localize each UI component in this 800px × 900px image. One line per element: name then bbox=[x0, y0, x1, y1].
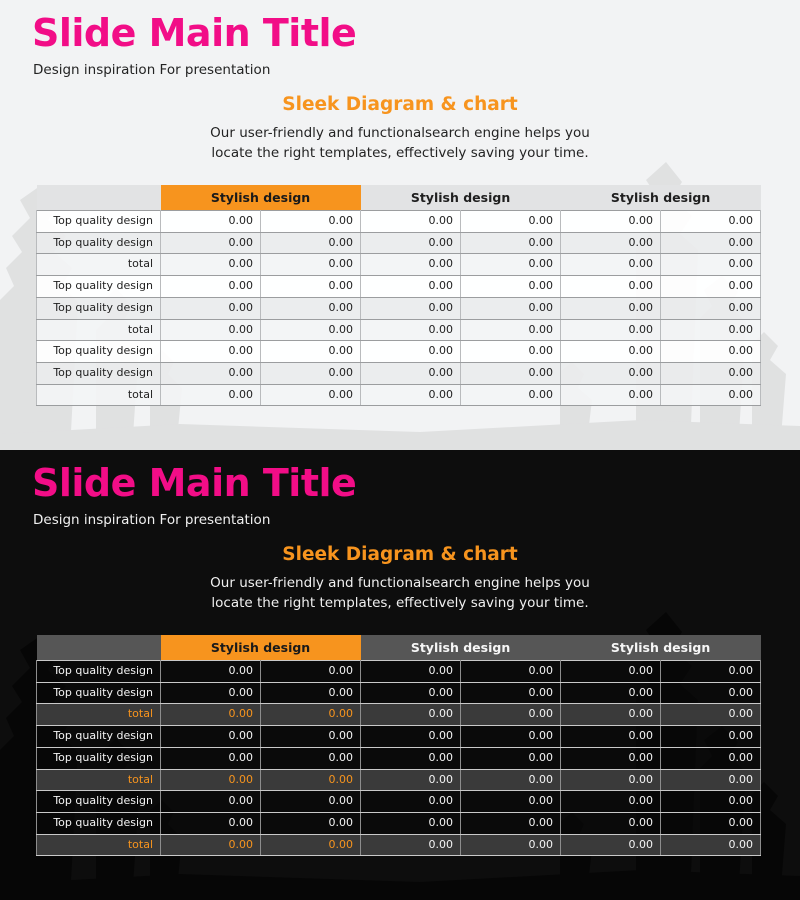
table-cell-value: 0.00 bbox=[161, 362, 261, 384]
table-cell-value: 0.00 bbox=[461, 726, 561, 748]
column-header-group-1: Stylish design bbox=[161, 635, 361, 661]
table-cell-value: 0.00 bbox=[461, 769, 561, 791]
section-title: Sleek Diagram & chart bbox=[0, 544, 800, 565]
table-cell-value: 0.00 bbox=[161, 791, 261, 813]
table-cell-value: 0.00 bbox=[261, 297, 361, 319]
table-cell-value: 0.00 bbox=[161, 254, 261, 276]
table-cell-value: 0.00 bbox=[361, 769, 461, 791]
table-cell-value: 0.00 bbox=[361, 362, 461, 384]
data-table: Stylish design Stylish design Stylish de… bbox=[36, 635, 761, 856]
column-header-group-3: Stylish design bbox=[561, 185, 761, 211]
column-header-group-2: Stylish design bbox=[361, 185, 561, 211]
slide-dark: Slide Main Title Design inspiration For … bbox=[0, 450, 800, 900]
table-body: Top quality design0.000.000.000.000.000.… bbox=[37, 661, 761, 856]
table-cell-value: 0.00 bbox=[561, 254, 661, 276]
table-cell-value: 0.00 bbox=[461, 384, 561, 406]
page-subtitle: Design inspiration For presentation bbox=[33, 62, 270, 78]
column-header-group-3: Stylish design bbox=[561, 635, 761, 661]
table-cell-value: 0.00 bbox=[161, 812, 261, 834]
table-cell-value: 0.00 bbox=[361, 297, 461, 319]
table-cell-value: 0.00 bbox=[161, 384, 261, 406]
table-cell-value: 0.00 bbox=[561, 362, 661, 384]
table-cell-value: 0.00 bbox=[161, 297, 261, 319]
column-header-group-1: Stylish design bbox=[161, 185, 361, 211]
table-cell-value: 0.00 bbox=[461, 254, 561, 276]
row-label-total: total bbox=[37, 834, 161, 856]
table-cell-value: 0.00 bbox=[461, 319, 561, 341]
row-label-total: total bbox=[37, 319, 161, 341]
table-cell-value: 0.00 bbox=[361, 747, 461, 769]
table-cell-value: 0.00 bbox=[661, 704, 761, 726]
table-cell-value: 0.00 bbox=[561, 812, 661, 834]
data-table-wrapper: Stylish design Stylish design Stylish de… bbox=[36, 185, 760, 406]
table-row: total0.000.000.000.000.000.00 bbox=[37, 834, 761, 856]
table-cell-value: 0.00 bbox=[261, 834, 361, 856]
table-cell-value: 0.00 bbox=[561, 769, 661, 791]
table-cell-value: 0.00 bbox=[261, 232, 361, 254]
table-cell-value: 0.00 bbox=[561, 384, 661, 406]
section-description: Our user-friendly and functionalsearch e… bbox=[190, 574, 610, 613]
table-cell-value: 0.00 bbox=[661, 362, 761, 384]
table-cell-value: 0.00 bbox=[261, 747, 361, 769]
table-cell-value: 0.00 bbox=[661, 791, 761, 813]
table-cell-value: 0.00 bbox=[661, 254, 761, 276]
table-cell-value: 0.00 bbox=[361, 211, 461, 233]
table-cell-value: 0.00 bbox=[561, 704, 661, 726]
slide-light: Slide Main Title Design inspiration For … bbox=[0, 0, 800, 450]
table-cell-value: 0.00 bbox=[161, 211, 261, 233]
table-head: Stylish design Stylish design Stylish de… bbox=[37, 185, 761, 211]
table-cell-value: 0.00 bbox=[461, 747, 561, 769]
table-cell-value: 0.00 bbox=[261, 276, 361, 298]
table-cell-value: 0.00 bbox=[461, 232, 561, 254]
table-row: Top quality design0.000.000.000.000.000.… bbox=[37, 791, 761, 813]
table-cell-value: 0.00 bbox=[461, 704, 561, 726]
row-label: Top quality design bbox=[37, 682, 161, 704]
table-cell-value: 0.00 bbox=[461, 297, 561, 319]
table-cell-value: 0.00 bbox=[361, 791, 461, 813]
table-cell-value: 0.00 bbox=[361, 661, 461, 683]
table-cell-value: 0.00 bbox=[361, 812, 461, 834]
table-cell-value: 0.00 bbox=[261, 769, 361, 791]
table-row: total0.000.000.000.000.000.00 bbox=[37, 384, 761, 406]
table-cell-value: 0.00 bbox=[361, 254, 461, 276]
table-row: Top quality design0.000.000.000.000.000.… bbox=[37, 747, 761, 769]
table-cell-value: 0.00 bbox=[161, 769, 261, 791]
table-cell-value: 0.00 bbox=[661, 747, 761, 769]
table-row: Top quality design0.000.000.000.000.000.… bbox=[37, 211, 761, 233]
table-cell-value: 0.00 bbox=[661, 319, 761, 341]
table-cell-value: 0.00 bbox=[161, 834, 261, 856]
table-row: Top quality design0.000.000.000.000.000.… bbox=[37, 341, 761, 363]
table-cell-value: 0.00 bbox=[461, 661, 561, 683]
table-cell-value: 0.00 bbox=[661, 341, 761, 363]
table-cell-value: 0.00 bbox=[561, 747, 661, 769]
table-cell-value: 0.00 bbox=[461, 682, 561, 704]
table-cell-value: 0.00 bbox=[361, 682, 461, 704]
table-body: Top quality design0.000.000.000.000.000.… bbox=[37, 211, 761, 406]
data-table-wrapper: Stylish design Stylish design Stylish de… bbox=[36, 635, 760, 856]
table-cell-value: 0.00 bbox=[561, 834, 661, 856]
column-header-blank bbox=[37, 635, 161, 661]
table-cell-value: 0.00 bbox=[361, 704, 461, 726]
table-cell-value: 0.00 bbox=[261, 384, 361, 406]
table-row: Top quality design0.000.000.000.000.000.… bbox=[37, 682, 761, 704]
row-label: Top quality design bbox=[37, 362, 161, 384]
row-label: Top quality design bbox=[37, 747, 161, 769]
table-cell-value: 0.00 bbox=[561, 319, 661, 341]
row-label: Top quality design bbox=[37, 276, 161, 298]
table-cell-value: 0.00 bbox=[261, 362, 361, 384]
table-cell-value: 0.00 bbox=[661, 232, 761, 254]
table-cell-value: 0.00 bbox=[561, 791, 661, 813]
table-cell-value: 0.00 bbox=[661, 834, 761, 856]
table-cell-value: 0.00 bbox=[661, 812, 761, 834]
table-cell-value: 0.00 bbox=[261, 211, 361, 233]
page-title: Slide Main Title bbox=[32, 14, 356, 54]
table-cell-value: 0.00 bbox=[261, 682, 361, 704]
table-cell-value: 0.00 bbox=[261, 341, 361, 363]
table-cell-value: 0.00 bbox=[561, 211, 661, 233]
table-cell-value: 0.00 bbox=[261, 254, 361, 276]
table-cell-value: 0.00 bbox=[461, 791, 561, 813]
table-cell-value: 0.00 bbox=[661, 682, 761, 704]
table-cell-value: 0.00 bbox=[561, 341, 661, 363]
row-label: Top quality design bbox=[37, 232, 161, 254]
table-cell-value: 0.00 bbox=[461, 341, 561, 363]
table-row: total0.000.000.000.000.000.00 bbox=[37, 319, 761, 341]
table-cell-value: 0.00 bbox=[161, 747, 261, 769]
table-row: total0.000.000.000.000.000.00 bbox=[37, 254, 761, 276]
slide-deck-preview: Slide Main Title Design inspiration For … bbox=[0, 0, 800, 900]
table-cell-value: 0.00 bbox=[361, 726, 461, 748]
table-header-row: Stylish design Stylish design Stylish de… bbox=[37, 185, 761, 211]
page-subtitle: Design inspiration For presentation bbox=[33, 512, 270, 528]
table-row: total0.000.000.000.000.000.00 bbox=[37, 704, 761, 726]
table-cell-value: 0.00 bbox=[661, 384, 761, 406]
table-cell-value: 0.00 bbox=[261, 726, 361, 748]
table-cell-value: 0.00 bbox=[561, 661, 661, 683]
row-label: Top quality design bbox=[37, 211, 161, 233]
row-label-total: total bbox=[37, 769, 161, 791]
row-label: Top quality design bbox=[37, 661, 161, 683]
table-cell-value: 0.00 bbox=[561, 297, 661, 319]
table-cell-value: 0.00 bbox=[361, 834, 461, 856]
section-title: Sleek Diagram & chart bbox=[0, 94, 800, 115]
row-label: Top quality design bbox=[37, 297, 161, 319]
table-cell-value: 0.00 bbox=[361, 276, 461, 298]
table-cell-value: 0.00 bbox=[461, 362, 561, 384]
column-header-group-2: Stylish design bbox=[361, 635, 561, 661]
table-cell-value: 0.00 bbox=[161, 682, 261, 704]
table-cell-value: 0.00 bbox=[261, 704, 361, 726]
table-cell-value: 0.00 bbox=[461, 834, 561, 856]
row-label: Top quality design bbox=[37, 791, 161, 813]
table-row: Top quality design0.000.000.000.000.000.… bbox=[37, 661, 761, 683]
table-row: Top quality design0.000.000.000.000.000.… bbox=[37, 297, 761, 319]
table-row: Top quality design0.000.000.000.000.000.… bbox=[37, 362, 761, 384]
row-label: Top quality design bbox=[37, 812, 161, 834]
table-cell-value: 0.00 bbox=[461, 211, 561, 233]
table-cell-value: 0.00 bbox=[661, 276, 761, 298]
table-cell-value: 0.00 bbox=[161, 319, 261, 341]
table-cell-value: 0.00 bbox=[561, 276, 661, 298]
table-cell-value: 0.00 bbox=[661, 661, 761, 683]
table-cell-value: 0.00 bbox=[661, 211, 761, 233]
table-header-row: Stylish design Stylish design Stylish de… bbox=[37, 635, 761, 661]
row-label-total: total bbox=[37, 254, 161, 276]
page-title: Slide Main Title bbox=[32, 464, 356, 504]
table-row: Top quality design0.000.000.000.000.000.… bbox=[37, 812, 761, 834]
table-cell-value: 0.00 bbox=[361, 384, 461, 406]
table-cell-value: 0.00 bbox=[161, 726, 261, 748]
table-cell-value: 0.00 bbox=[161, 661, 261, 683]
table-cell-value: 0.00 bbox=[561, 726, 661, 748]
table-row: total0.000.000.000.000.000.00 bbox=[37, 769, 761, 791]
row-label-total: total bbox=[37, 384, 161, 406]
table-cell-value: 0.00 bbox=[161, 232, 261, 254]
table-head: Stylish design Stylish design Stylish de… bbox=[37, 635, 761, 661]
section-description: Our user-friendly and functionalsearch e… bbox=[190, 124, 610, 163]
table-cell-value: 0.00 bbox=[561, 232, 661, 254]
table-cell-value: 0.00 bbox=[361, 341, 461, 363]
table-cell-value: 0.00 bbox=[161, 341, 261, 363]
table-cell-value: 0.00 bbox=[261, 319, 361, 341]
row-label: Top quality design bbox=[37, 341, 161, 363]
table-cell-value: 0.00 bbox=[261, 791, 361, 813]
table-cell-value: 0.00 bbox=[361, 232, 461, 254]
table-cell-value: 0.00 bbox=[561, 682, 661, 704]
table-cell-value: 0.00 bbox=[261, 812, 361, 834]
table-cell-value: 0.00 bbox=[461, 276, 561, 298]
table-row: Top quality design0.000.000.000.000.000.… bbox=[37, 232, 761, 254]
row-label: Top quality design bbox=[37, 726, 161, 748]
data-table: Stylish design Stylish design Stylish de… bbox=[36, 185, 761, 406]
table-cell-value: 0.00 bbox=[361, 319, 461, 341]
column-header-blank bbox=[37, 185, 161, 211]
table-cell-value: 0.00 bbox=[461, 812, 561, 834]
row-label-total: total bbox=[37, 704, 161, 726]
table-row: Top quality design0.000.000.000.000.000.… bbox=[37, 276, 761, 298]
table-row: Top quality design0.000.000.000.000.000.… bbox=[37, 726, 761, 748]
table-cell-value: 0.00 bbox=[661, 769, 761, 791]
table-cell-value: 0.00 bbox=[161, 276, 261, 298]
table-cell-value: 0.00 bbox=[261, 661, 361, 683]
table-cell-value: 0.00 bbox=[161, 704, 261, 726]
table-cell-value: 0.00 bbox=[661, 297, 761, 319]
table-cell-value: 0.00 bbox=[661, 726, 761, 748]
